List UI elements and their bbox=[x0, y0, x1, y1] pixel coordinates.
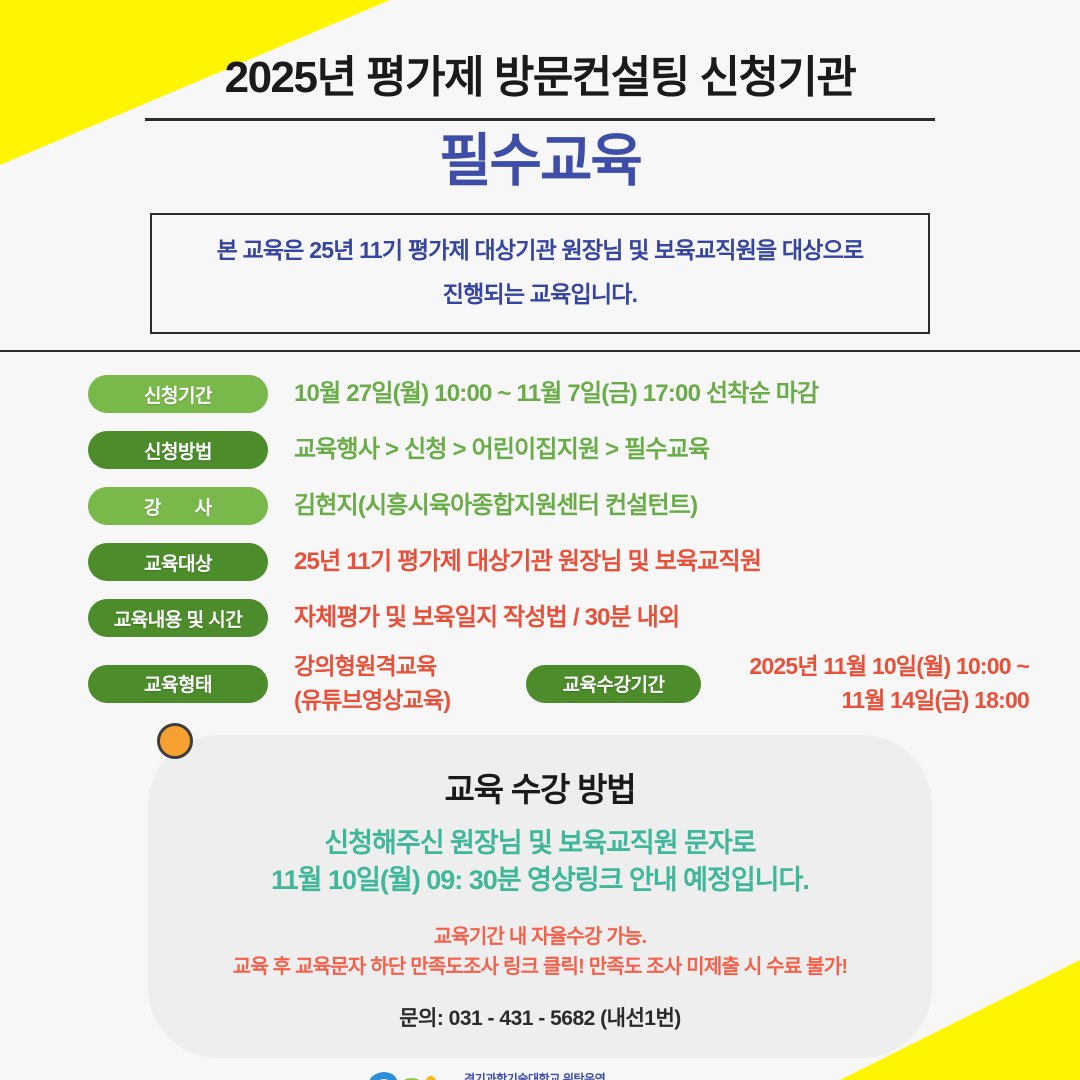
label-pill-application-period: 신청기간 bbox=[88, 375, 268, 413]
how-to-highlight-line-2: 11월 10일(월) 09: 30분 영상링크 안내 예정입니다. bbox=[178, 862, 902, 899]
value-content-duration: 자체평가 및 보육일지 작성법 / 30분 내외 bbox=[294, 602, 679, 634]
value-audience: 25년 11기 평가제 대상기관 원장님 및 보육교직원 bbox=[294, 546, 761, 578]
label-pill-course-type: 교육형태 bbox=[88, 665, 268, 703]
poster-canvas: 2025년 평가제 방문컨설팅 신청기관 필수교육 본 교육은 25년 11기 … bbox=[0, 0, 1080, 1080]
course-type-line-2: (유튜브영상교육) bbox=[294, 684, 526, 717]
orange-circle-icon bbox=[157, 723, 193, 759]
label-pill-application-method: 신청방법 bbox=[88, 431, 268, 469]
label-pill-instructor: 강 사 bbox=[88, 487, 268, 525]
course-type-line-1: 강의형원격교육 bbox=[294, 650, 526, 683]
label-pill-viewing-period: 교육수강기간 bbox=[526, 665, 701, 703]
warning-line-2: 교육 후 교육문자 하단 만족도조사 링크 클릭! 만족도 조사 미제출 시 수… bbox=[178, 952, 902, 982]
info-row-course-type: 교육형태 강의형원격교육 (유튜브영상교육) 교육수강기간 2025년 11월 … bbox=[88, 650, 1080, 717]
value-application-period: 10월 27일(월) 10:00 ~ 11월 7일(금) 17:00 선착순 마… bbox=[294, 378, 818, 410]
notice-box: 본 교육은 25년 11기 평가제 대상기관 원장님 및 보육교직원을 대상으로… bbox=[150, 213, 930, 334]
contact-phone: 문의: 031 - 431 - 5682 (내선1번) bbox=[178, 1002, 902, 1032]
info-row-content-duration: 교육내용 및 시간 자체평가 및 보육일지 작성법 / 30분 내외 bbox=[88, 594, 1080, 642]
notice-line-1: 본 교육은 25년 11기 평가제 대상기관 원장님 및 보육교직원을 대상으로 bbox=[162, 229, 918, 273]
value-instructor: 김현지(시흥시육아종합지원센터 컨설턴트) bbox=[294, 490, 697, 522]
warning-line-1: 교육기간 내 자율수강 가능. bbox=[178, 922, 902, 952]
info-rows-list: 신청기간 10월 27일(월) 10:00 ~ 11월 7일(금) 17:00 … bbox=[0, 370, 1080, 717]
footer-logo-block: 경기과학기술대학교 위탁운영 시흥시육아종합지원센터 bbox=[0, 1070, 1080, 1080]
viewing-period-line-2: 11월 14일(금) 18:00 bbox=[719, 684, 1029, 717]
label-pill-content-duration: 교육내용 및 시간 bbox=[88, 599, 268, 637]
how-to-attend-title: 교육 수강 방법 bbox=[178, 763, 902, 811]
value-course-type: 강의형원격교육 (유튜브영상교육) bbox=[294, 650, 526, 717]
info-row-audience: 교육대상 25년 11기 평가제 대상기관 원장님 및 보육교직원 bbox=[88, 538, 1080, 586]
label-pill-audience: 교육대상 bbox=[88, 543, 268, 581]
warning-block: 교육기간 내 자율수강 가능. 교육 후 교육문자 하단 만족도조사 링크 클릭… bbox=[178, 922, 902, 982]
sc-logo-icon bbox=[364, 1071, 448, 1080]
footer-operator: 경기과학기술대학교 위탁운영 bbox=[460, 1070, 716, 1080]
info-row-instructor: 강 사 김현지(시흥시육아종합지원센터 컨설턴트) bbox=[88, 482, 1080, 530]
value-viewing-period: 2025년 11월 10일(월) 10:00 ~ 11월 14일(금) 18:0… bbox=[719, 650, 1029, 717]
how-to-highlight-line-1: 신청해주신 원장님 및 보육교직원 문자로 bbox=[178, 825, 902, 862]
notice-line-2: 진행되는 교육입니다. bbox=[162, 273, 918, 317]
poster-header: 2025년 평가제 방문컨설팅 신청기관 필수교육 본 교육은 25년 11기 … bbox=[0, 0, 1080, 334]
info-row-application-method: 신청방법 교육행사 > 신청 > 어린이집지원 > 필수교육 bbox=[88, 426, 1080, 474]
title-divider bbox=[145, 118, 935, 121]
footer-text: 경기과학기술대학교 위탁운영 시흥시육아종합지원센터 bbox=[460, 1070, 716, 1080]
header-divider bbox=[0, 350, 1080, 352]
viewing-period-line-1: 2025년 11월 10일(월) 10:00 ~ bbox=[719, 650, 1029, 683]
info-row-application-period: 신청기간 10월 27일(월) 10:00 ~ 11월 7일(금) 17:00 … bbox=[88, 370, 1080, 418]
page-subtitle: 필수교육 bbox=[0, 129, 1080, 195]
how-to-attend-card: 교육 수강 방법 신청해주신 원장님 및 보육교직원 문자로 11월 10일(월… bbox=[148, 735, 932, 1058]
page-title: 2025년 평가제 방문컨설팅 신청기관 bbox=[145, 54, 935, 102]
value-application-method: 교육행사 > 신청 > 어린이집지원 > 필수교육 bbox=[294, 434, 709, 466]
